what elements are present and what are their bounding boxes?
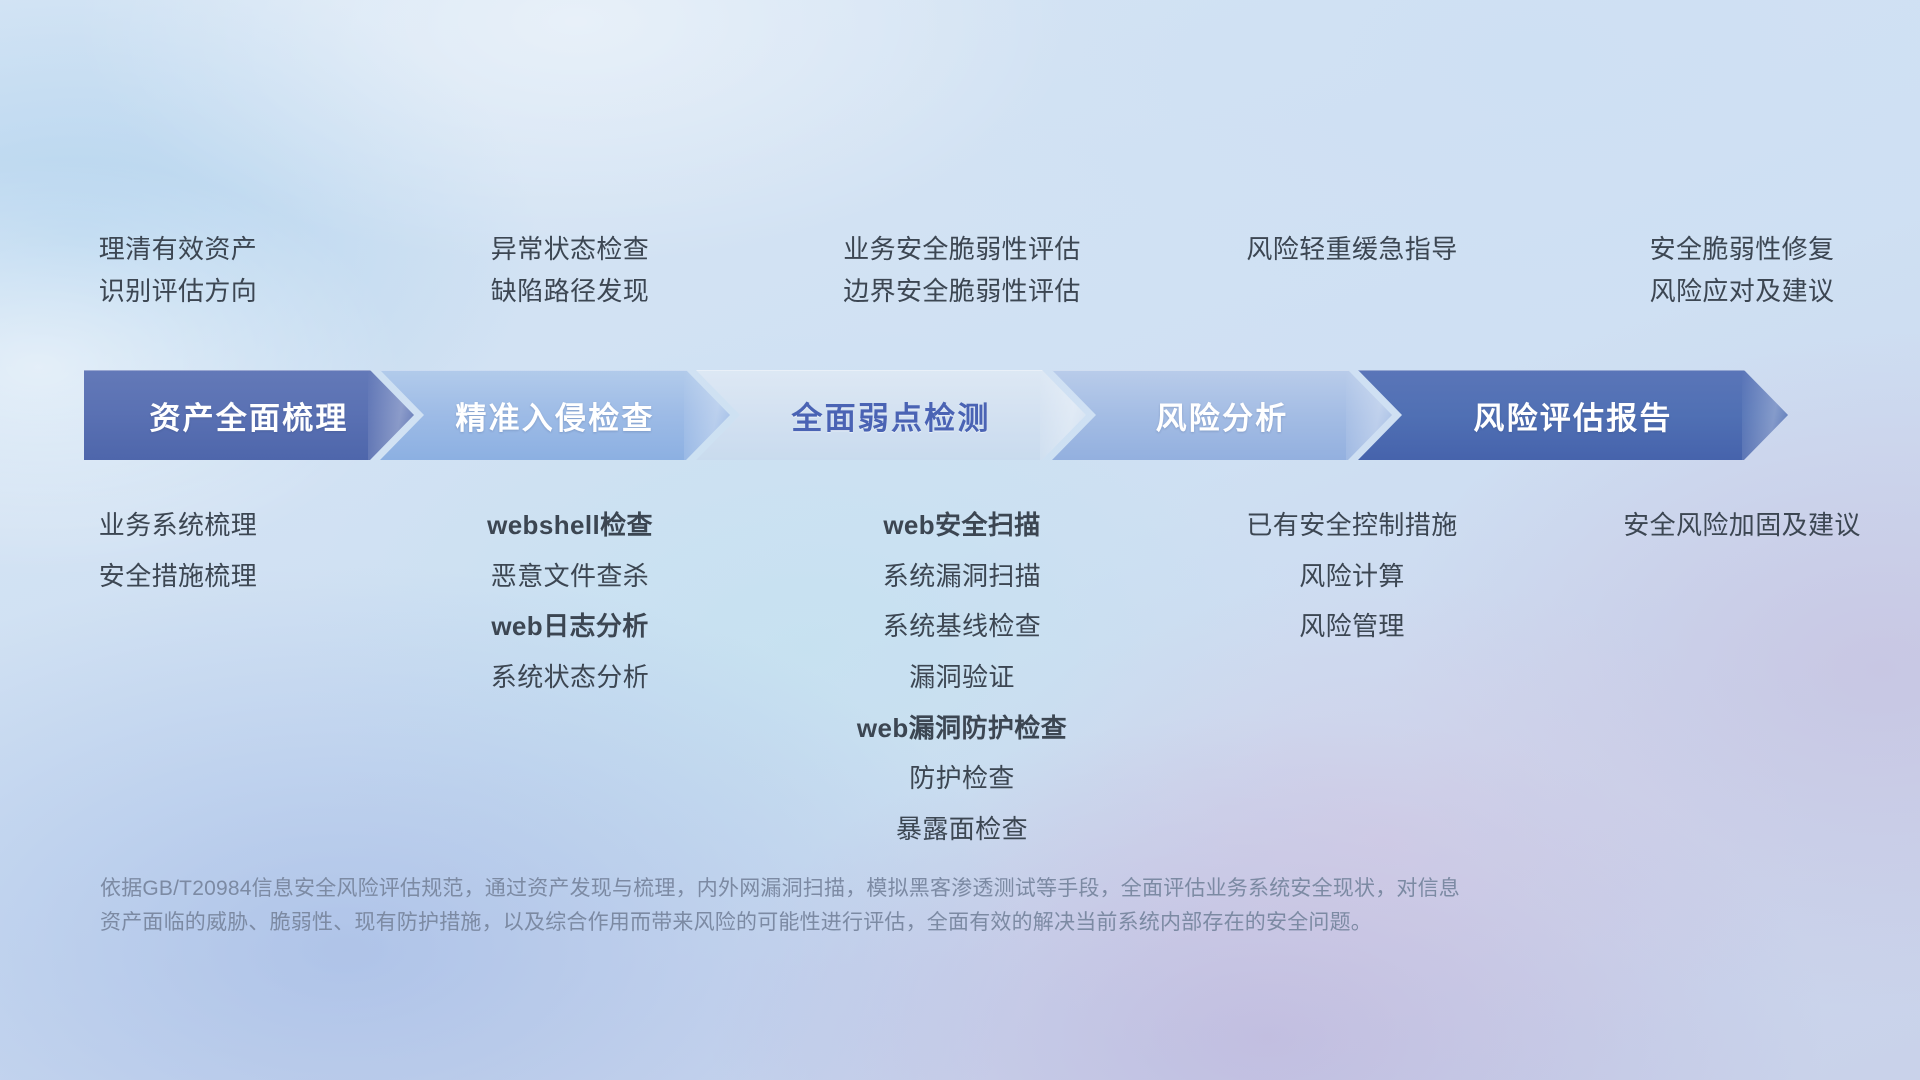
bottom-label-item: 防护检查 <box>909 753 1015 804</box>
top-label-item: 理清有效资产 <box>99 228 257 270</box>
bottom-label-item: 风险管理 <box>1299 601 1405 652</box>
process-stage-1[interactable]: 资产全面梳理 <box>84 370 414 460</box>
process-stage-label: 风险分析 <box>1156 393 1289 438</box>
top-label-item: 风险轻重缓急指导 <box>1246 228 1457 270</box>
bottom-label-item: 业务系统梳理 <box>99 500 257 551</box>
top-labels-stage-4: 风险轻重缓急指导 <box>1160 228 1544 312</box>
bottom-labels-stage-3: web安全扫描 系统漏洞扫描 系统基线检查 漏洞验证 web漏洞防护检查 防护检… <box>770 500 1154 855</box>
bottom-label-item: 安全风险加固及建议 <box>1623 500 1861 551</box>
bottom-label-item: 系统状态分析 <box>491 652 649 703</box>
footer-description: 依据GB/T20984信息安全风险评估规范，通过资产发现与梳理，内外网漏洞扫描，… <box>100 872 1740 940</box>
top-labels-row: 理清有效资产 识别评估方向 异常状态检查 缺陷路径发现 业务安全脆弱性评估 边界… <box>0 228 1920 312</box>
bottom-label-item: webshell检查 <box>487 500 653 551</box>
bottom-labels-stage-4: 已有安全控制措施 风险计算 风险管理 <box>1160 500 1544 652</box>
process-stage-5[interactable]: 风险评估报告 <box>1358 370 1788 460</box>
top-labels-stage-3: 业务安全脆弱性评估 边界安全脆弱性评估 <box>770 228 1154 312</box>
top-label-item: 识别评估方向 <box>99 270 257 312</box>
bottom-label-item: 恶意文件查杀 <box>491 551 649 602</box>
bottom-labels-stage-5: 安全风险加固及建议 <box>1550 500 1920 551</box>
top-labels-stage-5: 安全脆弱性修复 风险应对及建议 <box>1550 228 1920 312</box>
diagram-canvas: 理清有效资产 识别评估方向 异常状态检查 缺陷路径发现 业务安全脆弱性评估 边界… <box>0 0 1920 1080</box>
bottom-label-item: 系统漏洞扫描 <box>883 551 1041 602</box>
process-stage-2[interactable]: 精准入侵检查 <box>380 370 730 460</box>
bottom-labels-stage-2: webshell检查 恶意文件查杀 web日志分析 系统状态分析 <box>378 500 762 703</box>
bottom-labels-row: 业务系统梳理 安全措施梳理 webshell检查 恶意文件查杀 web日志分析 … <box>0 500 1920 855</box>
top-label-item: 缺陷路径发现 <box>491 270 649 312</box>
bottom-label-item: 安全措施梳理 <box>99 551 257 602</box>
process-stage-label: 全面弱点检测 <box>791 393 990 438</box>
bottom-label-item: 暴露面检查 <box>896 804 1028 855</box>
process-stage-label: 风险评估报告 <box>1473 393 1672 438</box>
process-stage-label: 精准入侵检查 <box>455 393 654 438</box>
process-stage-4[interactable]: 风险分析 <box>1052 370 1392 460</box>
process-stage-label: 资产全面梳理 <box>149 393 348 438</box>
bottom-label-item: web日志分析 <box>491 601 648 652</box>
top-label-item: 业务安全脆弱性评估 <box>843 228 1081 270</box>
process-stage-3[interactable]: 全面弱点检测 <box>696 370 1086 460</box>
top-label-item: 风险应对及建议 <box>1650 270 1835 312</box>
bottom-label-item: 风险计算 <box>1299 551 1405 602</box>
top-label-item: 异常状态检查 <box>491 228 649 270</box>
bottom-label-item: 系统基线检查 <box>883 601 1041 652</box>
bottom-label-item: web漏洞防护检查 <box>857 703 1067 754</box>
top-label-item: 边界安全脆弱性评估 <box>843 270 1081 312</box>
footer-line-1: 依据GB/T20984信息安全风险评估规范，通过资产发现与梳理，内外网漏洞扫描，… <box>100 872 1740 906</box>
bottom-label-item: 漏洞验证 <box>909 652 1015 703</box>
process-chevron-band: 资产全面梳理 精准入侵检查 全面弱点检测 风险分析 风险评估报告 <box>84 370 1856 460</box>
bottom-label-item: web安全扫描 <box>883 500 1040 551</box>
top-labels-stage-1: 理清有效资产 识别评估方向 <box>0 228 370 312</box>
bottom-label-item: 已有安全控制措施 <box>1246 500 1457 551</box>
bottom-labels-stage-1: 业务系统梳理 安全措施梳理 <box>0 500 370 601</box>
top-labels-stage-2: 异常状态检查 缺陷路径发现 <box>378 228 762 312</box>
top-label-item: 安全脆弱性修复 <box>1650 228 1835 270</box>
footer-line-2: 资产面临的威胁、脆弱性、现有防护措施，以及综合作用而带来风险的可能性进行评估，全… <box>100 906 1740 940</box>
